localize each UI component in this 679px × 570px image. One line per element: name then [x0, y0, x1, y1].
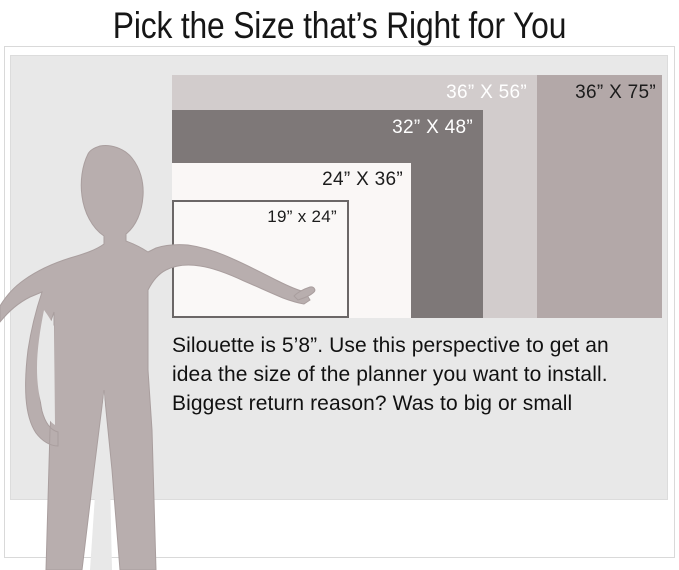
frame-border-top [4, 46, 675, 47]
frame-border-right [674, 46, 675, 558]
frame-border-bottom [4, 557, 675, 558]
frame-border-left [4, 46, 5, 558]
caption-text: Silouette is 5’8”. Use this perspective … [172, 331, 662, 418]
size-label-36x75: 36” X 75” [575, 82, 656, 104]
page-title: Pick the Size that’s Right for You [48, 0, 632, 52]
size-rect-19x24[interactable]: 19” x 24” [172, 200, 349, 318]
caption-line-1: Silouette is 5’8”. Use this perspective … [172, 331, 662, 360]
size-label-19x24: 19” x 24” [267, 207, 337, 227]
size-label-32x48: 32” X 48” [392, 117, 473, 139]
caption-line-3: Biggest return reason? Was to big or sma… [172, 389, 662, 418]
poster-canvas: Pick the Size that’s Right for You 36” X… [0, 0, 679, 570]
size-label-36x56: 36” X 56” [446, 82, 527, 104]
size-rect-36x75[interactable]: 36” X 75” [537, 75, 662, 318]
size-label-24x36: 24” X 36” [322, 169, 403, 191]
caption-line-2: idea the size of the planner you want to… [172, 360, 662, 389]
